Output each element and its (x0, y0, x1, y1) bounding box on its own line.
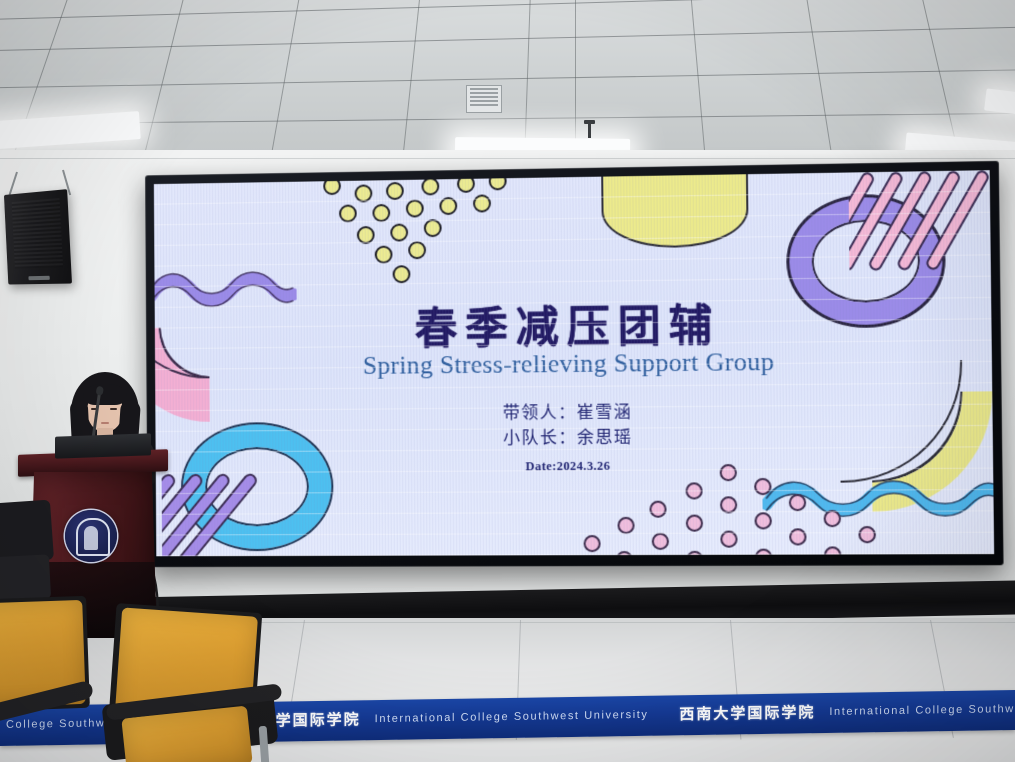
speaker-badge (28, 276, 49, 280)
led-display[interactable]: 春季减压团辅 Spring Stress-relieving Support G… (145, 161, 1004, 567)
slide-title-cn: 春季减压团辅 (155, 288, 992, 359)
wall-speaker (4, 189, 72, 284)
chair-center[interactable] (108, 608, 338, 762)
pink-dot-cluster (497, 463, 902, 556)
chair-back-far-left-2[interactable] (0, 554, 51, 601)
presenter-fringe (83, 384, 127, 405)
banner-cn-3: 西南大学国际学院 (679, 701, 815, 724)
yellow-quarter-arc (871, 391, 993, 511)
university-emblem-icon (65, 510, 117, 562)
banner-en-3: International College Southwest Universi… (829, 701, 1015, 717)
blue-wave (762, 477, 994, 521)
presenter-mouth (101, 422, 109, 424)
sprinkler-icon (588, 122, 591, 138)
air-vent-icon (466, 85, 502, 113)
slide-leader: 带领人：崔雪涵 (155, 397, 992, 428)
yellow-half-circle (601, 172, 749, 248)
laptop[interactable] (55, 433, 151, 458)
ceiling-light-left (0, 111, 141, 151)
slide-canvas: 春季减压团辅 Spring Stress-relieving Support G… (154, 170, 994, 556)
ceiling-light-far-right (984, 88, 1015, 123)
violet-stripes (162, 466, 348, 556)
pink-stripes (848, 170, 994, 273)
banner-en-2: International College Southwest Universi… (375, 708, 649, 724)
lecture-hall-scene: 春季减压团辅 Spring Stress-relieving Support G… (0, 0, 1015, 762)
purple-ring (788, 195, 944, 326)
slide-team-leader: 小队长：余思瑶 (155, 422, 992, 453)
screen-bezel: 春季减压团辅 Spring Stress-relieving Support G… (145, 161, 1004, 567)
presenter-eye-right (110, 408, 117, 410)
